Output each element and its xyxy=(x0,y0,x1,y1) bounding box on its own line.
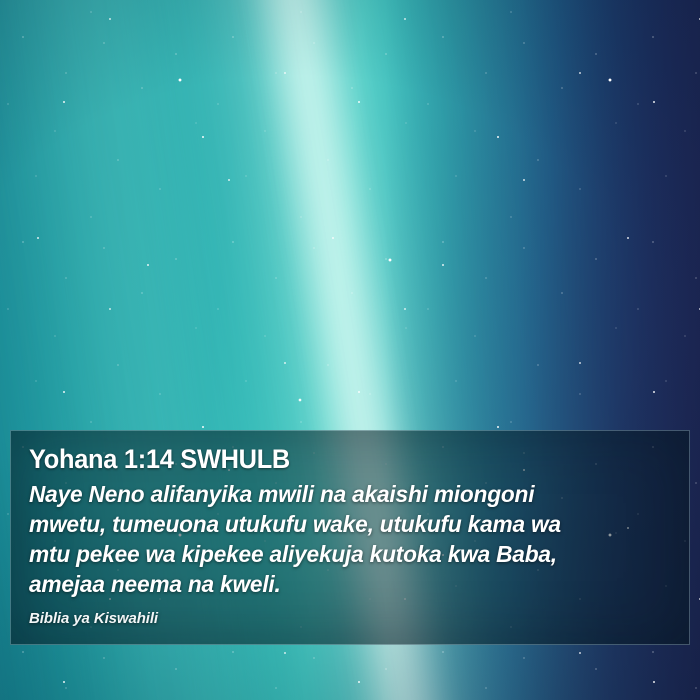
verse-line: Naye Neno alifanyika mwili na akaishi mi… xyxy=(29,479,649,509)
verse-line: mwetu, tumeuona utukufu wake, utukufu ka… xyxy=(29,509,649,539)
verse-overlay-panel: Yohana 1:14 SWHULB Naye Neno alifanyika … xyxy=(10,430,690,645)
verse-image-canvas: Yohana 1:14 SWHULB Naye Neno alifanyika … xyxy=(0,0,700,700)
verse-line: amejaa neema na kweli. xyxy=(29,569,649,599)
bible-version-attribution: Biblia ya Kiswahili xyxy=(29,610,158,627)
verse-line: mtu pekee wa kipekee aliyekuja kutoka kw… xyxy=(29,539,649,569)
verse-body-text: Naye Neno alifanyika mwili na akaishi mi… xyxy=(29,479,649,599)
verse-reference-heading: Yohana 1:14 SWHULB xyxy=(29,443,632,475)
